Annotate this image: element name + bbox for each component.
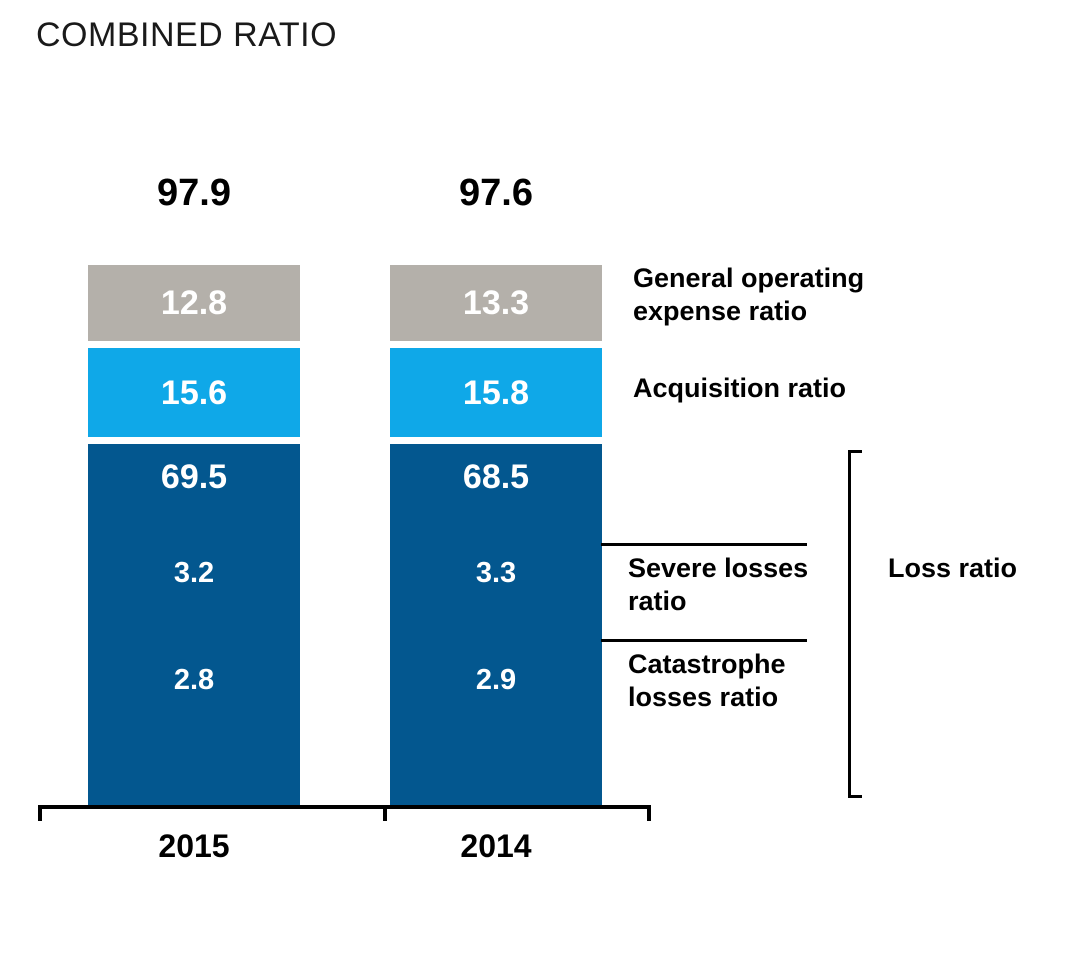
segment-value-catastrophe-losses-2014: 2.9 [390,666,602,695]
segment-general-operating-2014[interactable]: 13.3 [390,265,602,341]
page-title: COMBINED RATIO [36,16,337,55]
bar-total-2015: 97.9 [88,172,300,215]
loss-ratio-bracket [848,450,862,798]
legend-label-loss-ratio: Loss ratio [888,552,1048,585]
leader-line-catastrophe-losses [601,639,807,642]
x-axis-tick-left [38,805,42,821]
chart-canvas: COMBINED RATIO 97.9 97.6 12.8 15.6 69.5 … [0,0,1084,953]
x-axis-tick-right [647,805,651,821]
segment-value-loss-2014: 68.5 [390,460,602,494]
segment-acquisition-2015[interactable]: 15.6 [88,348,300,437]
segment-gap [390,437,602,444]
segment-gap [390,341,602,348]
stacked-bar-2014: 13.3 15.8 68.5 3.3 2.9 [390,265,602,807]
segment-value-acquisition-2014: 15.8 [390,376,602,410]
legend-label-severe-losses-ratio: Severe losses ratio [628,552,858,618]
x-axis-tick-middle [383,805,387,821]
x-axis-label-2015: 2015 [88,828,300,865]
legend-label-acquisition-ratio: Acquisition ratio [633,372,933,405]
segment-value-general-operating-2014: 13.3 [390,286,602,320]
segment-value-severe-losses-2015: 3.2 [88,559,300,588]
x-axis-line [38,805,651,809]
stacked-bar-2015: 12.8 15.6 69.5 3.2 2.8 [88,265,300,807]
legend-label-catastrophe-losses-ratio: Catastrophe losses ratio [628,648,858,714]
bar-total-2014: 97.6 [390,172,602,215]
segment-loss-2014[interactable]: 68.5 3.3 2.9 [390,444,602,807]
segment-value-acquisition-2015: 15.6 [88,376,300,410]
segment-value-loss-2015: 69.5 [88,460,300,494]
segment-value-catastrophe-losses-2015: 2.8 [88,666,300,695]
leader-line-severe-losses [601,543,807,546]
segment-value-general-operating-2015: 12.8 [88,286,300,320]
segment-loss-2015[interactable]: 69.5 3.2 2.8 [88,444,300,807]
segment-value-severe-losses-2014: 3.3 [390,559,602,588]
segment-gap [88,437,300,444]
legend-label-general-operating-expense-ratio: General operating expense ratio [633,262,933,328]
segment-acquisition-2014[interactable]: 15.8 [390,348,602,437]
segment-gap [88,341,300,348]
x-axis-label-2014: 2014 [390,828,602,865]
segment-general-operating-2015[interactable]: 12.8 [88,265,300,341]
